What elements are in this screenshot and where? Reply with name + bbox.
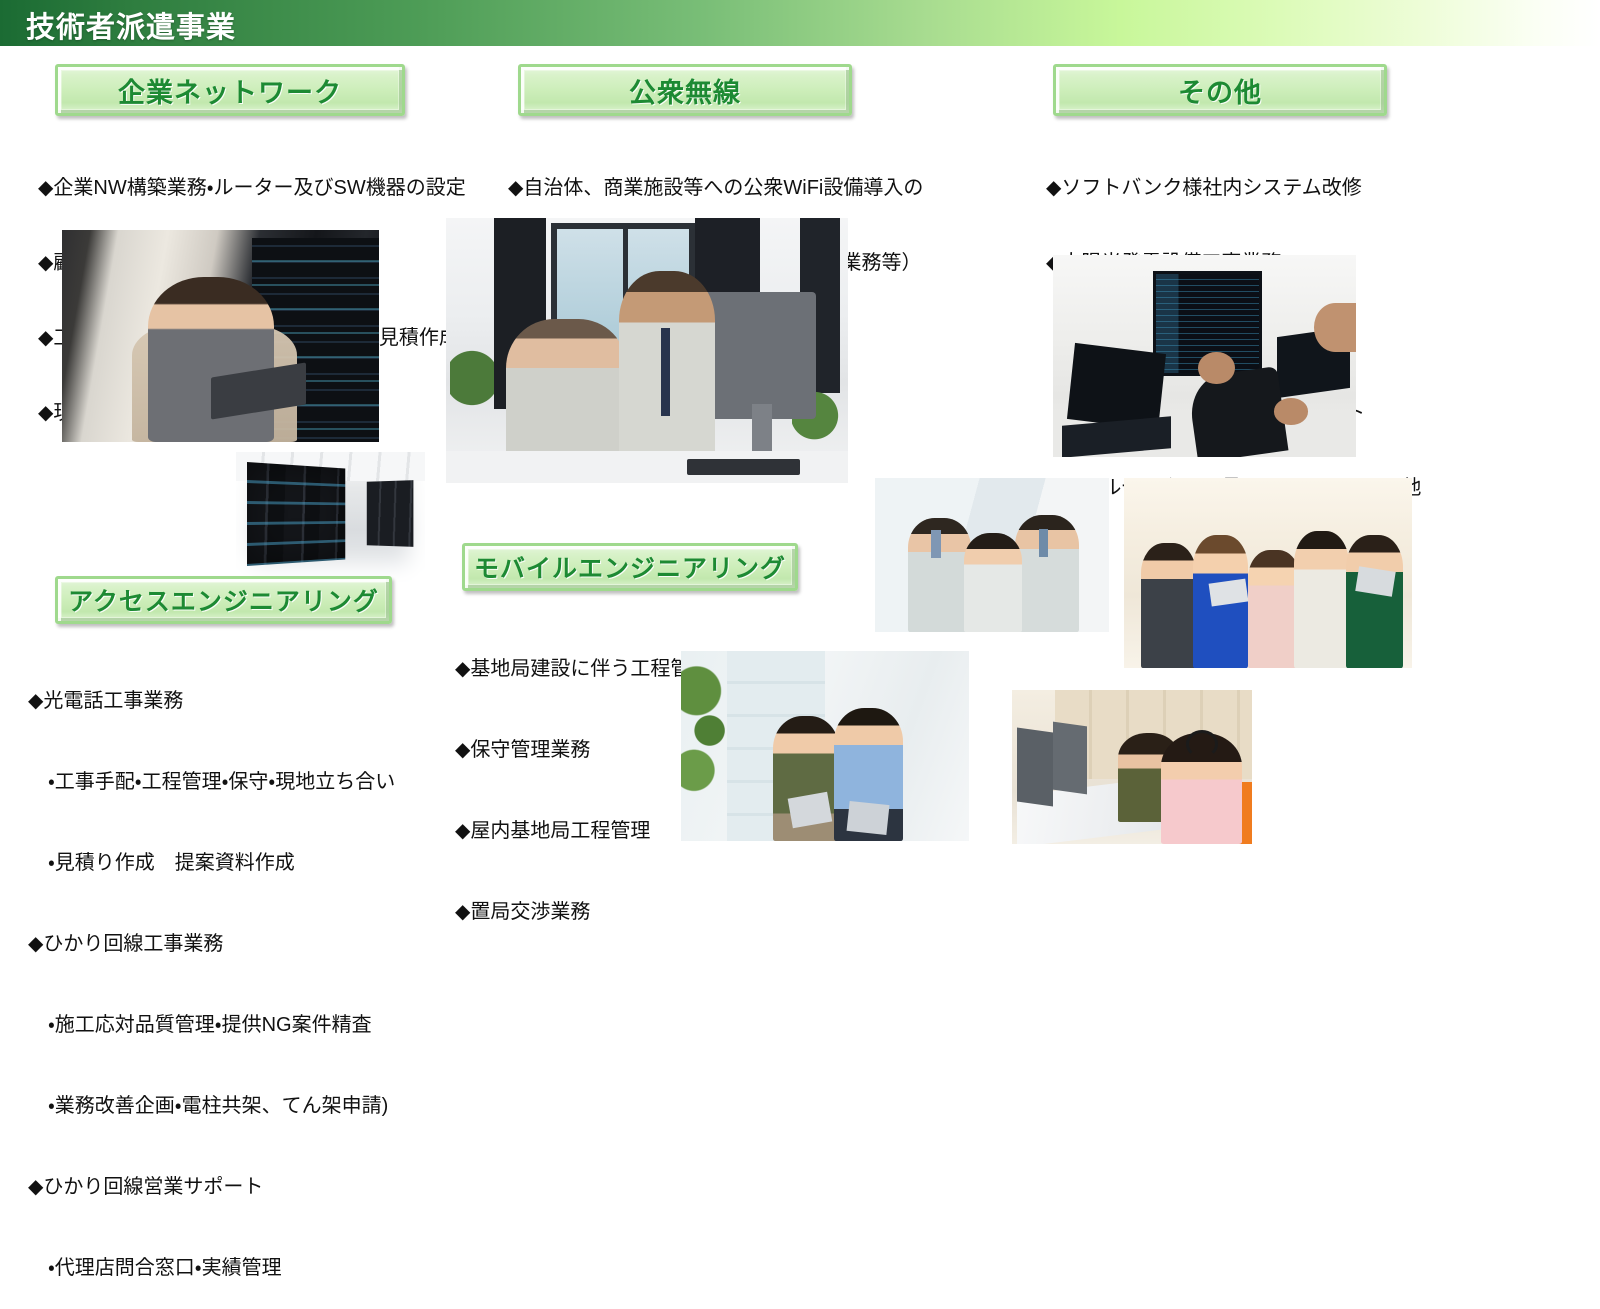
standing-worker-graphic xyxy=(619,271,715,462)
photo-duo-laptops xyxy=(681,651,969,841)
bullet-line: ◆ソフトバンク様社内システム改修 xyxy=(1046,176,1446,201)
bullet-line: ・業務改善企画・電柱共架、てん架申請) xyxy=(28,1093,468,1120)
section-header-access-engineering: アクセスエンジニアリング xyxy=(55,576,392,624)
hand-typing-graphic xyxy=(1274,398,1307,424)
hand-pointing-graphic xyxy=(1198,352,1234,384)
photo-five-members xyxy=(1124,478,1412,668)
member-1-graphic xyxy=(1141,543,1196,668)
arm-right-graphic xyxy=(1314,303,1356,351)
rack-aisle-far-graphic xyxy=(366,480,413,547)
section-header-mobile-engineering: モバイルエンジニアリング xyxy=(462,543,798,591)
bullet-line: ◆ひかり回線工事業務 xyxy=(28,931,468,958)
plant-left-graphic xyxy=(450,324,494,414)
photo-developer-coding xyxy=(1053,255,1356,457)
tablet-graphic xyxy=(1209,578,1249,606)
monitor-far-graphic xyxy=(1053,722,1087,794)
monitor-stand-graphic xyxy=(752,404,772,452)
laptop-left-graphic xyxy=(1067,343,1166,430)
keyboard-graphic xyxy=(687,459,800,475)
photo-datacenter-racks xyxy=(236,452,425,582)
member-5-graphic xyxy=(1346,535,1404,668)
section-title-label: 企業ネットワーク xyxy=(118,71,342,110)
page-header-bar: 技術者派遣事業 xyxy=(0,0,1600,46)
bullet-line: ◆置局交渉業務 xyxy=(455,899,785,926)
necktie-left-graphic xyxy=(931,530,940,558)
photo-two-workers-pc xyxy=(446,218,848,483)
bullet-line: ◆光電話工事業務 xyxy=(28,688,468,715)
bullet-line: ・見積り作成 提案資料作成 xyxy=(28,850,468,877)
necktie-right-graphic xyxy=(1039,529,1048,557)
section-header-enterprise-network: 企業ネットワーク xyxy=(55,64,405,116)
section-bullets-access-engineering: ◆光電話工事業務 ・工事手配・工程管理・保守・現地立ち合い ・見積り作成 提案資… xyxy=(28,634,468,1309)
section-title-label: 公衆無線 xyxy=(629,71,741,110)
laptop-right-graphic xyxy=(847,801,890,835)
member-3-graphic xyxy=(1248,550,1300,668)
headset-icon xyxy=(1186,730,1218,758)
bullet-line: ・工事手配・工程管理・保守・現地立ち合い xyxy=(28,769,468,796)
bullet-line: ◆企業NW構築業務・ルーター及びSW機器の設定 xyxy=(38,176,508,201)
section-title-label: アクセスエンジニアリング xyxy=(68,582,379,618)
monitor-near-graphic xyxy=(1017,728,1053,807)
bullet-line: ・代理店問合窓口・実績管理 xyxy=(28,1255,468,1282)
worker-center-graphic xyxy=(964,533,1023,632)
monitor-graphic xyxy=(703,292,816,419)
photo-trio-uniform xyxy=(875,478,1109,632)
photo-engineer-server-room xyxy=(62,230,379,442)
section-header-others: その他 xyxy=(1053,64,1387,116)
page-title: 技術者派遣事業 xyxy=(26,4,236,46)
bullet-line: ・施工応対品質管理・提供NG案件精査 xyxy=(28,1012,468,1039)
necktie-graphic xyxy=(661,328,670,416)
photo-call-center xyxy=(1012,690,1252,844)
section-title-label: その他 xyxy=(1178,71,1262,110)
rack-aisle-graphic xyxy=(247,462,345,566)
foliage-graphic xyxy=(681,659,733,819)
member-4-graphic xyxy=(1294,531,1349,668)
section-header-public-wireless: 公衆無線 xyxy=(518,64,852,116)
bullet-line: ◆ひかり回線営業サポート xyxy=(28,1174,468,1201)
section-title-label: モバイルエンジニアリング xyxy=(474,549,786,585)
bullet-line: ◆自治体、商業施設等への公衆WiFi設備導入の xyxy=(508,176,978,201)
